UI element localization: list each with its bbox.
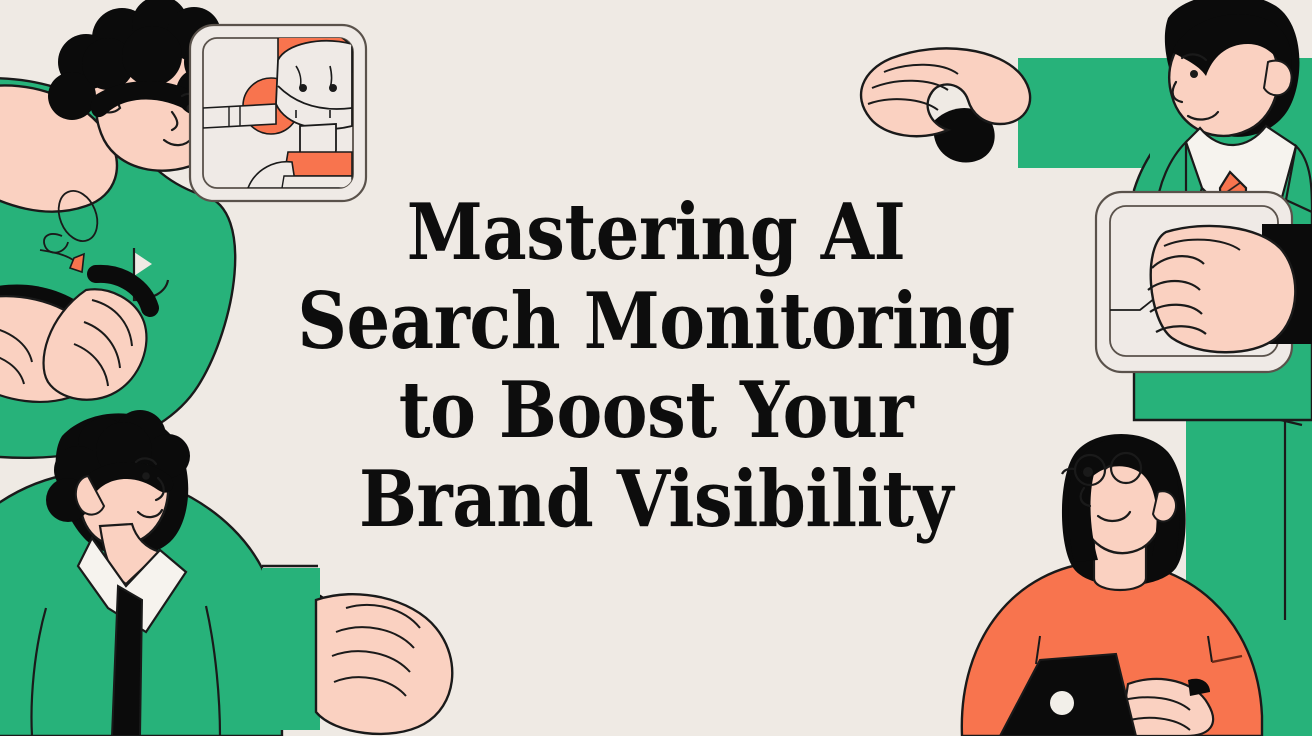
- laptop-logo-icon: [1050, 691, 1074, 715]
- black-tie-icon: [112, 586, 142, 736]
- illustration-layer: [0, 0, 1312, 736]
- eye-icon: [1083, 467, 1093, 477]
- tablet-hand-screen: [1096, 192, 1312, 372]
- eye-icon: [329, 84, 337, 92]
- tablet-face-screen: [190, 25, 366, 201]
- eye-icon: [1190, 70, 1198, 78]
- eye-icon: [299, 84, 307, 92]
- eye-icon: [142, 472, 150, 480]
- hero-banner: Mastering AI Search Monitoring to Boost …: [0, 0, 1312, 736]
